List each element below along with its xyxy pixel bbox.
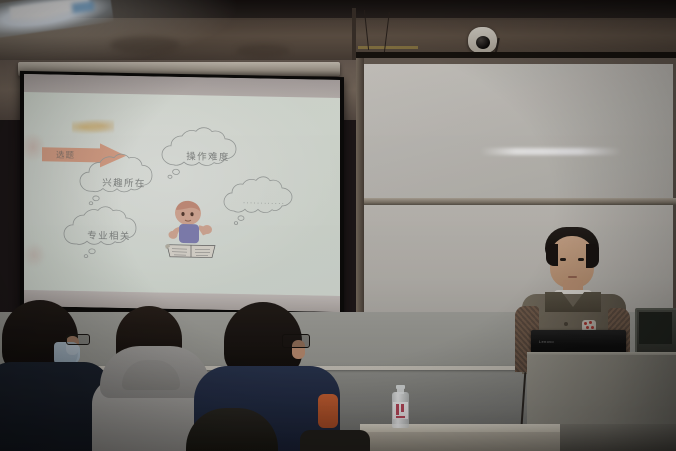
desk-monitor[interactable]: [635, 308, 676, 355]
bottle-label: [393, 402, 408, 419]
whiteboard-left-edge: [356, 58, 364, 320]
cloud-label: ············: [243, 200, 285, 208]
jacket-button: [564, 322, 568, 326]
thought-cloud-major-related: 专业相关: [56, 211, 162, 261]
security-camera-icon: [468, 27, 497, 53]
presenter-eye: [560, 258, 566, 261]
presenter-mouth: [568, 276, 577, 278]
floral-decoration-icon: [24, 242, 46, 268]
cloud-label: 专业相关: [87, 227, 131, 242]
presenter-hair-side: [546, 244, 558, 266]
presenter-eye: [578, 258, 584, 261]
cloud-label: 兴趣所在: [102, 175, 146, 190]
presenter-laptop[interactable]: Lenovo: [531, 330, 626, 354]
projection-screen: 选题 操作难度 兴趣所在: [24, 74, 340, 312]
audience-3-orange-accent: [318, 394, 338, 428]
classroom-scene: 选题 操作难度 兴趣所在: [0, 0, 676, 451]
thought-cloud-interest: 兴趣所在: [72, 159, 176, 207]
audience-1-glasses: [66, 334, 90, 345]
audience-3-glasses: [282, 334, 310, 348]
presenter-hair-side: [586, 244, 599, 268]
whiteboard-marker-rail: [360, 198, 676, 205]
desk-front: [360, 432, 560, 451]
whiteboard-light-reflection: [480, 148, 622, 155]
cartoon-child-illustration: [162, 199, 220, 262]
monitor-screen: [639, 312, 672, 344]
cloud-label: 操作难度: [186, 148, 230, 163]
bottle-cap: [396, 385, 405, 389]
presentation-slide: 选题 操作难度 兴趣所在: [24, 92, 340, 296]
ceiling-stain: [110, 36, 180, 54]
laptop-brand-logo: Lenovo: [539, 339, 554, 344]
thought-cloud-ellipsis: ············: [216, 180, 312, 228]
ceiling-stain: [236, 44, 290, 58]
chair-back: [300, 430, 370, 451]
camera-lens: [476, 36, 490, 49]
floral-decoration-icon: [72, 119, 114, 136]
audience-1-face-mask: [54, 342, 80, 364]
whiteboard-upper-panel[interactable]: [363, 64, 673, 198]
water-bottle[interactable]: [392, 385, 409, 428]
